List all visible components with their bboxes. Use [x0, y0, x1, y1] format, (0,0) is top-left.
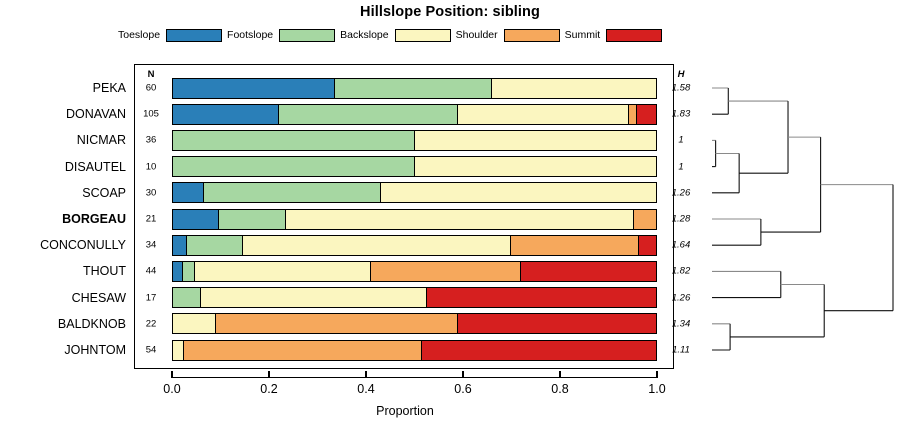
dendrogram [0, 0, 900, 440]
chart-root: Hillslope Position: sibling ToeslopeFoot… [0, 0, 900, 440]
